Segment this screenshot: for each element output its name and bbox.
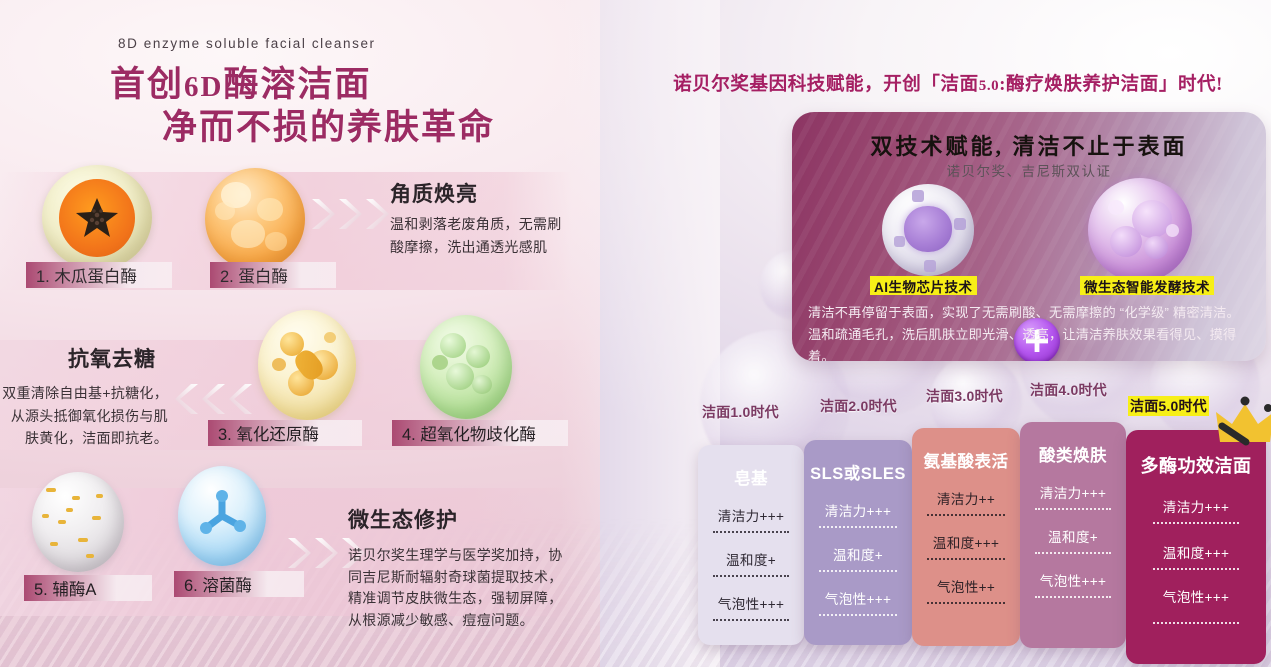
era-divider — [1035, 508, 1111, 510]
enzyme-item-3: 3. 氧化还原酶 — [258, 310, 356, 420]
section-heading-1: 角质焕亮 — [390, 178, 478, 208]
era-label-2: 洁面2.0时代 — [820, 396, 897, 416]
papaya-enzyme-icon — [42, 165, 152, 270]
era-divider — [1153, 622, 1239, 624]
tech-card-body-line-1: 清洁不再停留于表面，实现了无需刷酸、无需摩擦的 “化学级” 精密清洁。 — [808, 302, 1252, 324]
enzyme-label-text: 5. 辅酶A — [34, 576, 96, 600]
enzyme-item-1: 1. 木瓜蛋白酶 — [42, 165, 152, 270]
era-card-4[interactable]: 酸类焕肤 清洁力+++ 温和度+ 气泡性+++ — [1020, 422, 1126, 648]
enzyme-item-5: 5. 辅酶A — [32, 472, 124, 572]
headline-part-2: 开创「洁面 — [883, 75, 979, 95]
era-card-2-metric-1: 温和度+ — [813, 544, 903, 564]
page-title: 首创6D酶溶洁面 净而不损的养肤革命 — [110, 64, 630, 149]
era-divider — [1153, 522, 1239, 524]
headline-part-3: :酶疗焕肤养护洁面」时代! — [999, 75, 1223, 95]
sod-enzyme-icon — [420, 315, 512, 419]
era-card-3-metric-2: 气泡性++ — [921, 576, 1011, 596]
era-divider — [1035, 552, 1111, 554]
protease-enzyme-icon — [205, 168, 305, 270]
era-card-1-title: 皂基 — [734, 465, 768, 489]
enzyme-item-2: 2. 蛋白酶 — [205, 168, 305, 270]
era-card-3-metric-1: 温和度+++ — [921, 532, 1011, 552]
era-divider — [713, 619, 789, 621]
era-card-5-metric-1: 温和度+++ — [1135, 542, 1257, 562]
title-line1-number: 6D — [184, 71, 223, 103]
microbiome-fermentation-image — [1088, 178, 1192, 282]
ai-biochip-image — [882, 184, 974, 276]
era-divider — [1035, 596, 1111, 598]
era-card-2-title: SLS或SLES — [810, 460, 906, 484]
microbiome-fermentation-badge: 微生态智能发酵技术 — [1080, 276, 1214, 295]
tech-card-heading: 双技术赋能, 清洁不止于表面 — [792, 129, 1266, 161]
section-heading-2: 抗氧去糖 — [68, 343, 156, 373]
section-body-1: 温和剥落老废角质，无需刷酸摩擦，洗出通透光感肌 — [390, 213, 570, 258]
enzyme-label-text: 2. 蛋白酶 — [220, 263, 288, 287]
era-card-2-metric-2: 气泡性+++ — [813, 588, 903, 608]
era-divider — [713, 531, 789, 533]
chevron-right-icon-group-1 — [310, 197, 390, 231]
era-card-5[interactable]: 多酶功效洁面 清洁力+++ 温和度+++ 气泡性+++ — [1126, 430, 1266, 664]
era-card-1-metric-1: 温和度+ — [707, 549, 795, 569]
enzyme-label-pill: 2. 蛋白酶 — [210, 262, 336, 288]
right-panel: 诺贝尔奖基因科技赋能，开创「洁面5.0:酶疗焕肤养护洁面」时代! 双技术赋能, … — [620, 0, 1271, 667]
era-card-5-title: 多酶功效洁面 — [1141, 452, 1252, 478]
era-card-3-title: 氨基酸表活 — [924, 448, 1009, 472]
ai-biochip-badge: AI生物芯片技术 — [870, 276, 977, 295]
coenzyme-a-icon — [32, 472, 124, 572]
enzyme-label-text: 4. 超氧化物歧化酶 — [402, 421, 536, 445]
era-card-2-metric-0: 清洁力+++ — [813, 500, 903, 520]
title-line2: 净而不损的养肤革命 — [110, 107, 630, 150]
enzyme-item-4: 4. 超氧化物歧化酶 — [420, 315, 512, 419]
era-card-4-metric-1: 温和度+ — [1029, 526, 1117, 546]
product-eyebrow-text: 8D enzyme soluble facial cleanser — [118, 36, 376, 51]
enzyme-label-pill: 6. 溶菌酶 — [174, 571, 304, 597]
era-divider — [927, 602, 1005, 604]
enzyme-label-text: 1. 木瓜蛋白酶 — [36, 263, 137, 287]
era-card-1[interactable]: 皂基 清洁力+++ 温和度+ 气泡性+++ — [698, 445, 804, 645]
section-body-3: 诺贝尔奖生理学与医学奖加持，协同吉尼斯耐辐射奇球菌提取技术，精准调节皮肤微生态，… — [348, 545, 570, 632]
era-label-4: 洁面4.0时代 — [1030, 380, 1107, 400]
right-headline: 诺贝尔奖基因科技赋能，开创「洁面5.0:酶疗焕肤养护洁面」时代! — [628, 70, 1268, 96]
enzyme-label-pill: 5. 辅酶A — [24, 575, 152, 601]
title-line1-suffix: 酶溶洁面 — [223, 65, 371, 104]
era-divider — [819, 614, 897, 616]
era-card-1-metric-2: 气泡性+++ — [707, 593, 795, 613]
era-label-1: 洁面1.0时代 — [702, 402, 779, 422]
lysozyme-enzyme-icon — [178, 466, 266, 566]
era-card-4-metric-2: 气泡性+++ — [1029, 570, 1117, 590]
era-label-3: 洁面3.0时代 — [926, 386, 1003, 406]
enzyme-label-pill: 4. 超氧化物歧化酶 — [392, 420, 568, 446]
oxidoreductase-enzyme-icon — [258, 310, 356, 420]
enzyme-label-text: 6. 溶菌酶 — [184, 572, 252, 596]
enzyme-label-pill: 1. 木瓜蛋白酶 — [26, 262, 172, 288]
era-divider — [819, 526, 897, 528]
era-card-2[interactable]: SLS或SLES 清洁力+++ 温和度+ 气泡性+++ — [804, 440, 912, 645]
era-card-4-metric-0: 清洁力+++ — [1029, 482, 1117, 502]
era-card-3[interactable]: 氨基酸表活 清洁力++ 温和度+++ 气泡性++ — [912, 428, 1020, 646]
era-divider — [713, 575, 789, 577]
enzyme-label-pill: 3. 氧化还原酶 — [208, 420, 362, 446]
era-divider — [819, 570, 897, 572]
era-card-3-metric-0: 清洁力++ — [921, 488, 1011, 508]
headline-part-1: 诺贝尔奖基因科技赋能， — [673, 75, 883, 95]
section-heading-3: 微生态修护 — [348, 504, 458, 534]
era-card-1-metric-0: 清洁力+++ — [707, 505, 795, 525]
enzyme-label-text: 3. 氧化还原酶 — [218, 421, 319, 445]
section-body-2: 双重清除自由基+抗糖化，从源头抵御氧化损伤与肌肤黄化，洁面即抗老。 — [0, 382, 168, 450]
era-card-5-metric-2: 气泡性+++ — [1135, 586, 1257, 606]
crown-icon — [1212, 396, 1271, 454]
tech-card-subheading: 诺贝尔奖、吉尼斯双认证 — [792, 160, 1266, 180]
tech-card-body: 清洁不再停留于表面，实现了无需刷酸、无需摩擦的 “化学级” 精密清洁。 温和疏通… — [808, 302, 1252, 361]
headline-version-number: 5.0 — [979, 78, 1000, 94]
chevron-left-icon-group-2 — [174, 382, 254, 416]
left-panel: 8D enzyme soluble facial cleanser 首创6D酶溶… — [0, 0, 620, 667]
era-divider — [927, 558, 1005, 560]
title-line1-prefix: 首创 — [110, 65, 184, 104]
era-divider — [927, 514, 1005, 516]
era-divider — [1153, 568, 1239, 570]
era-card-4-title: 酸类焕肤 — [1039, 442, 1107, 466]
tech-card-body-line-2: 温和疏通毛孔，洗后肌肤立即光滑、透亮，让清洁养肤效果看得见、摸得着。 — [808, 324, 1252, 361]
era-label-5: 洁面5.0时代 — [1128, 396, 1209, 416]
enzyme-item-6: 6. 溶菌酶 — [178, 466, 266, 566]
dual-technology-card: 双技术赋能, 清洁不止于表面 诺贝尔奖、吉尼斯双认证 AI生物芯片技术 微生态智… — [792, 112, 1266, 361]
era-card-5-metric-0: 清洁力+++ — [1135, 496, 1257, 516]
